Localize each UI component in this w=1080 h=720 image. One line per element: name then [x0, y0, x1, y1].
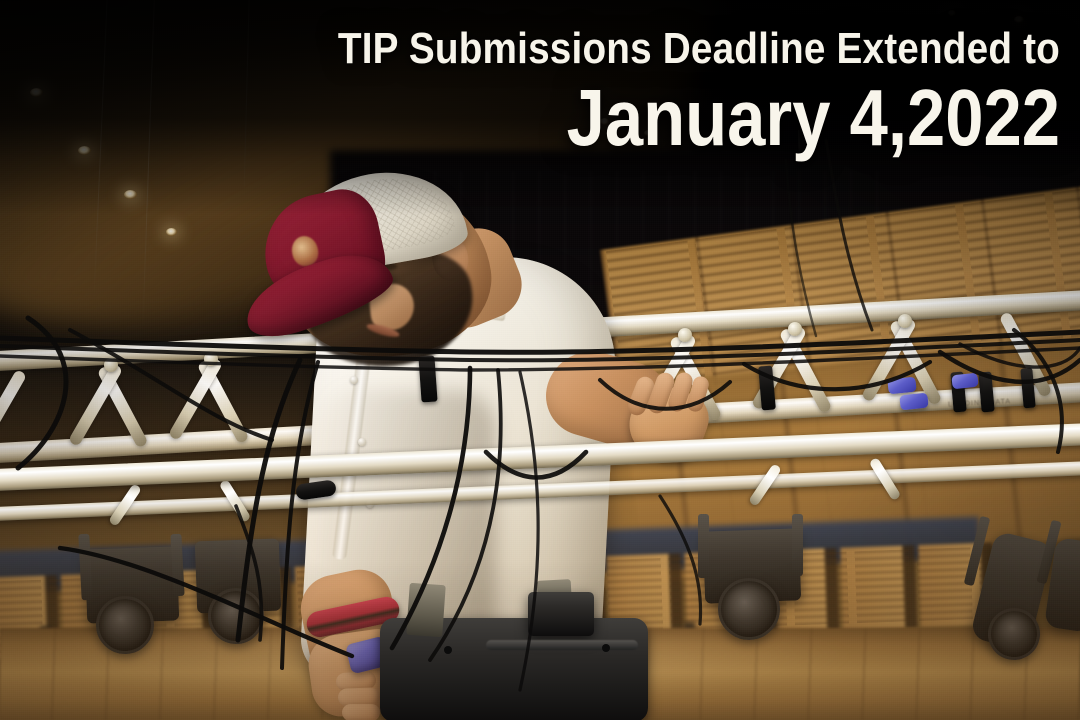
- fixture-screw: [602, 644, 610, 652]
- truss-node: [678, 328, 692, 342]
- blue-connector: [899, 393, 928, 411]
- blue-connector: [951, 373, 978, 390]
- shirt-button: [358, 438, 366, 446]
- truss-node: [104, 358, 118, 372]
- fixture-handle: [486, 640, 638, 650]
- fixture-electronics-box: [528, 592, 594, 636]
- truss-clamp: [406, 583, 446, 637]
- headline-block: TIP Submissions Deadline Extended to Jan…: [100, 26, 1060, 162]
- promo-banner: TRUSS LOADING DATA: [0, 0, 1080, 720]
- truss-node: [204, 352, 218, 366]
- truss-node: [788, 322, 802, 336]
- shirt-button: [350, 376, 358, 384]
- velcro-strap: [418, 355, 437, 402]
- fixture-screw: [444, 646, 452, 654]
- truss-node: [898, 314, 912, 328]
- headline-line-2: January 4,2022: [234, 74, 1060, 162]
- blue-connector: [887, 377, 916, 395]
- truss-diagonal: [0, 369, 27, 451]
- headline-line-1: TIP Submissions Deadline Extended to: [215, 26, 1060, 72]
- finger: [342, 704, 380, 720]
